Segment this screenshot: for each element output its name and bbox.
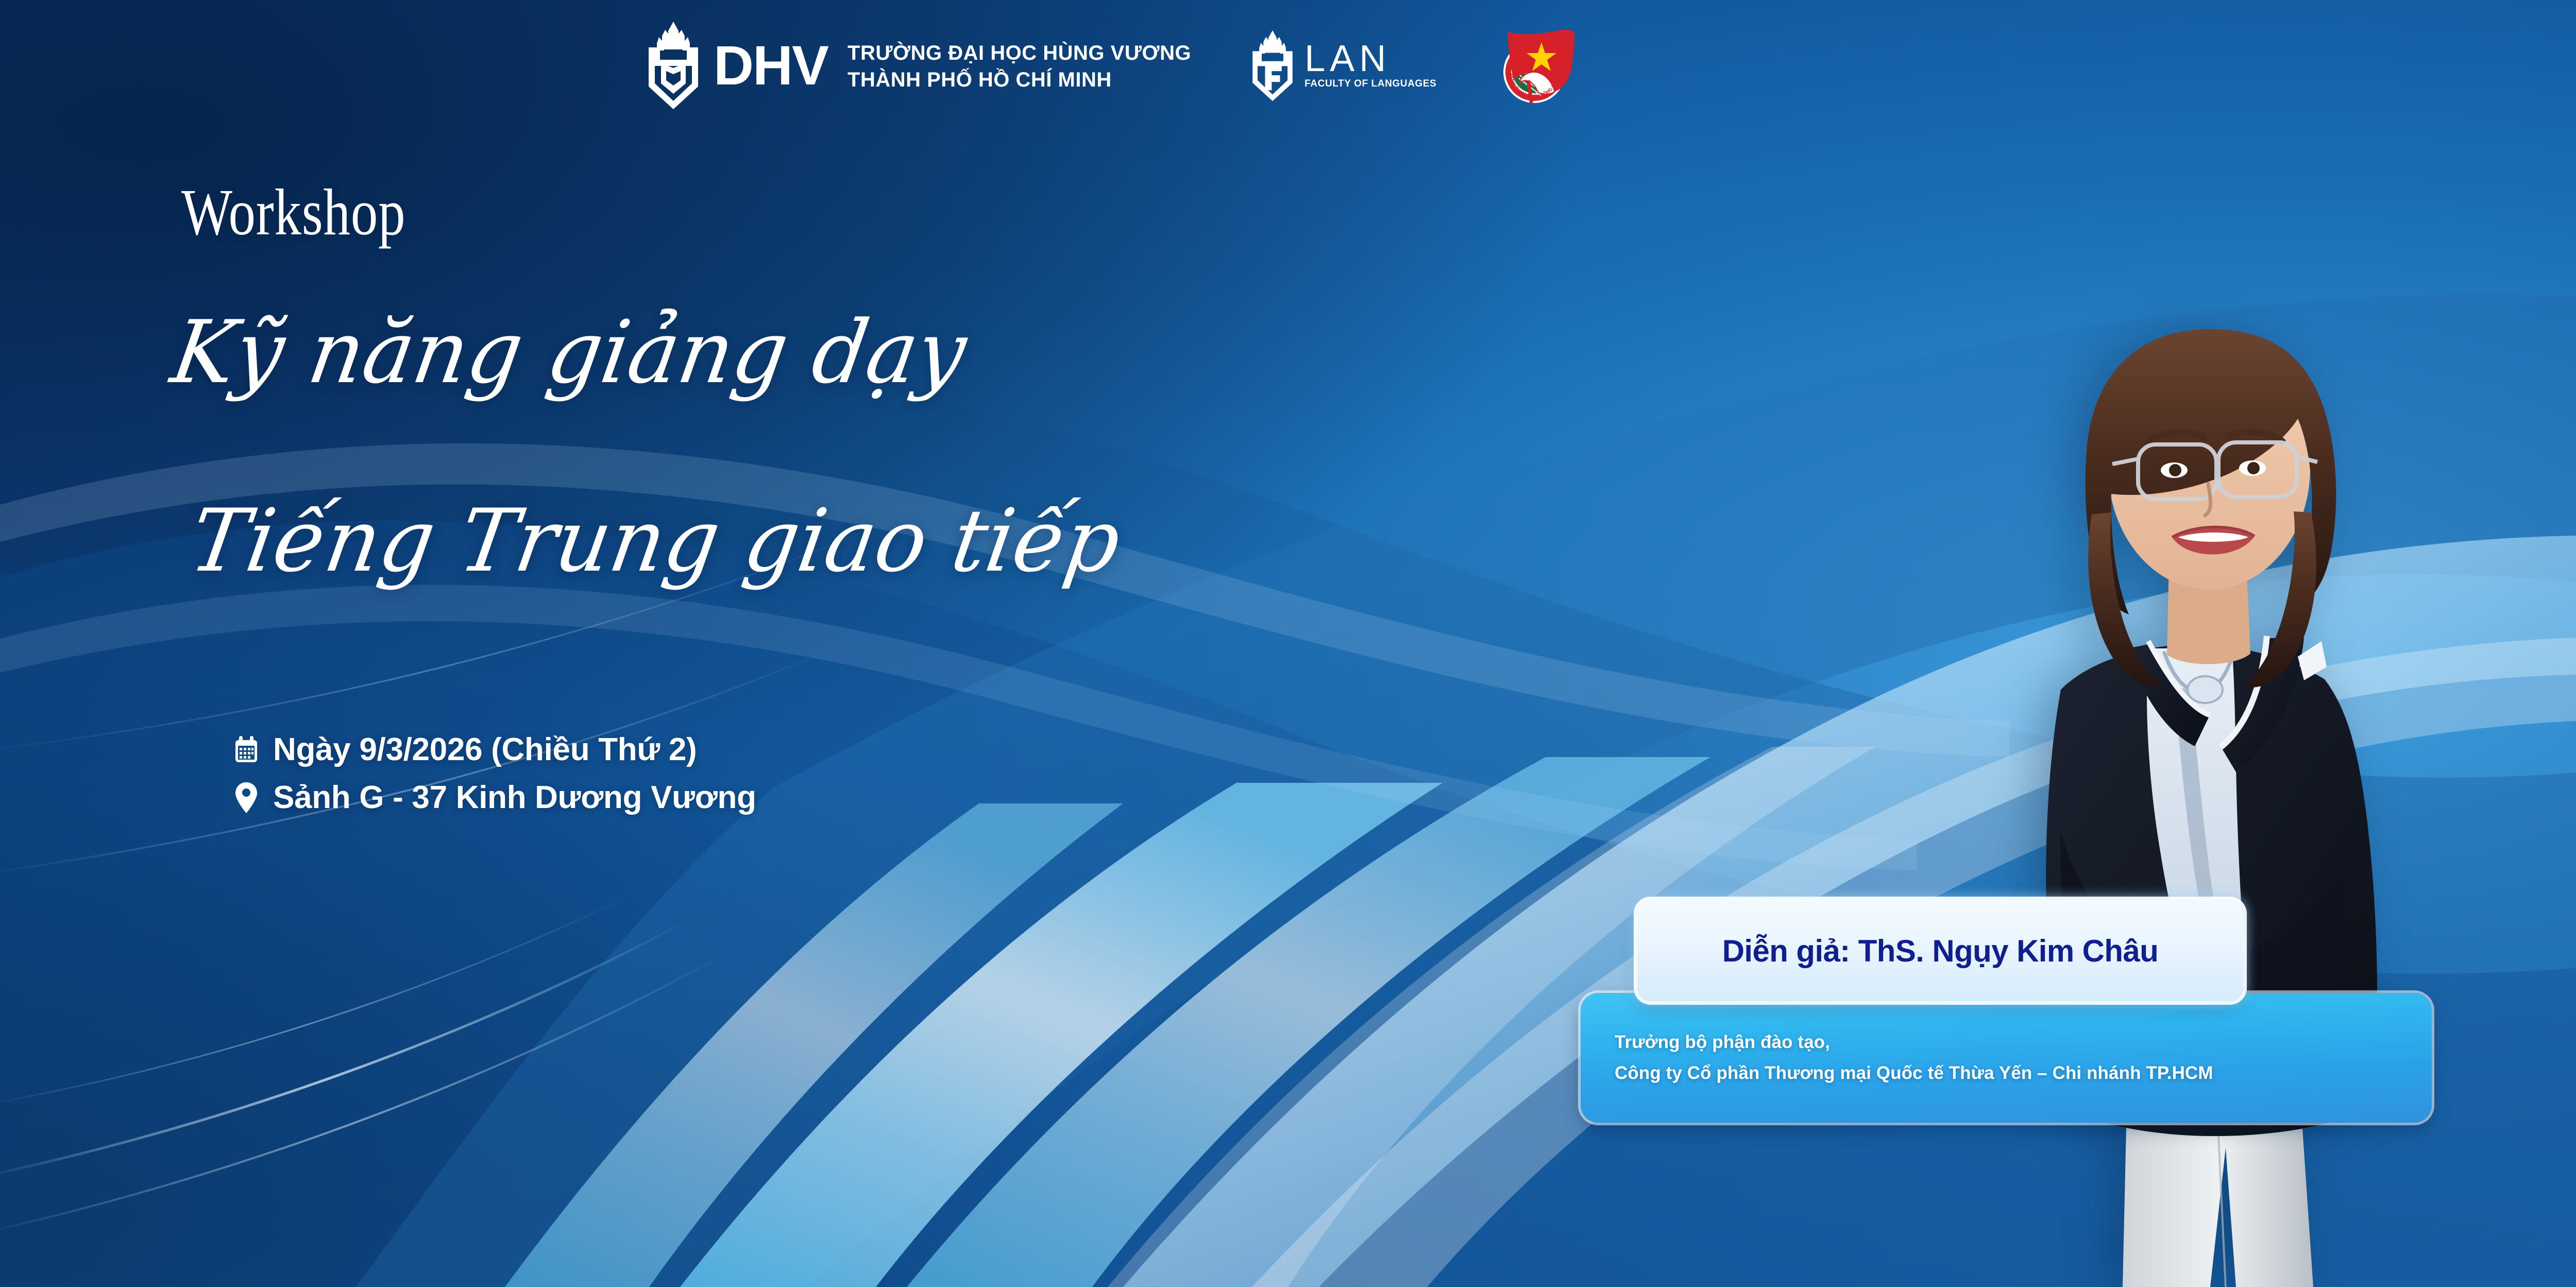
event-location: Sảnh G - 37 Kinh Dương Vương [273, 779, 756, 816]
event-date-row: Ngày 9/3/2026 (Chiều Thứ 2) [233, 731, 756, 768]
university-name: TRƯỜNG ĐẠI HỌC HÙNG VƯƠNG THÀNH PHỐ HỒ C… [848, 40, 1191, 93]
hero-title-line1: Kỹ năng giảng dạy [166, 309, 972, 396]
speaker-role-card: Trưởng bộ phận đào tạo, Công ty Cổ phần … [1581, 993, 2432, 1123]
speaker-portrait [1906, 226, 2514, 1287]
flan-shield-icon [1251, 29, 1294, 102]
calendar-icon [233, 734, 260, 766]
flan-subtitle: FACULTY OF LANGUAGES [1304, 78, 1436, 90]
dhv-abbrev: DHV [714, 39, 828, 92]
hero-title-line2: Tiếng Trung giao tiếp [185, 497, 1126, 584]
event-details: Ngày 9/3/2026 (Chiều Thứ 2) Sảnh G - 37 … [233, 731, 756, 827]
event-date: Ngày 9/3/2026 (Chiều Thứ 2) [273, 731, 697, 768]
speaker-role-line2: Công ty Cổ phần Thương mại Quốc tế Thừa … [1615, 1058, 2432, 1089]
flan-text: LAN FACULTY OF LANGUAGES [1304, 42, 1436, 90]
map-pin-icon [233, 782, 260, 814]
speaker-role-line1: Trưởng bộ phận đào tạo, [1615, 1027, 2432, 1058]
speaker-name-card: Diễn giả: ThS. Ngụy Kim Châu [1637, 900, 2243, 1001]
event-location-row: Sảnh G - 37 Kinh Dương Vương [233, 779, 756, 816]
youth-union-emblem-icon[interactable]: ĐOÀN THANH NIÊN CỘNG SẢN HỒ CHÍ MINH [1496, 25, 1579, 107]
speaker-name: Diễn giả: ThS. Ngụy Kim Châu [1722, 933, 2159, 969]
dhv-shield-icon [647, 21, 700, 111]
workshop-banner: DHV TRƯỜNG ĐẠI HỌC HÙNG VƯƠNG THÀNH PHỐ … [0, 0, 2576, 1287]
kicker-workshop: Workshop [181, 179, 405, 245]
header-logos: DHV TRƯỜNG ĐẠI HỌC HÙNG VƯƠNG THÀNH PHỐ … [647, 21, 1579, 111]
university-name-line1: TRƯỜNG ĐẠI HỌC HÙNG VƯƠNG [848, 40, 1191, 66]
dhv-logo[interactable]: DHV [647, 21, 828, 111]
flan-logo[interactable]: LAN FACULTY OF LANGUAGES [1251, 29, 1436, 102]
flan-abbrev: LAN [1304, 42, 1436, 76]
university-name-line2: THÀNH PHỐ HỒ CHÍ MINH [848, 67, 1191, 93]
